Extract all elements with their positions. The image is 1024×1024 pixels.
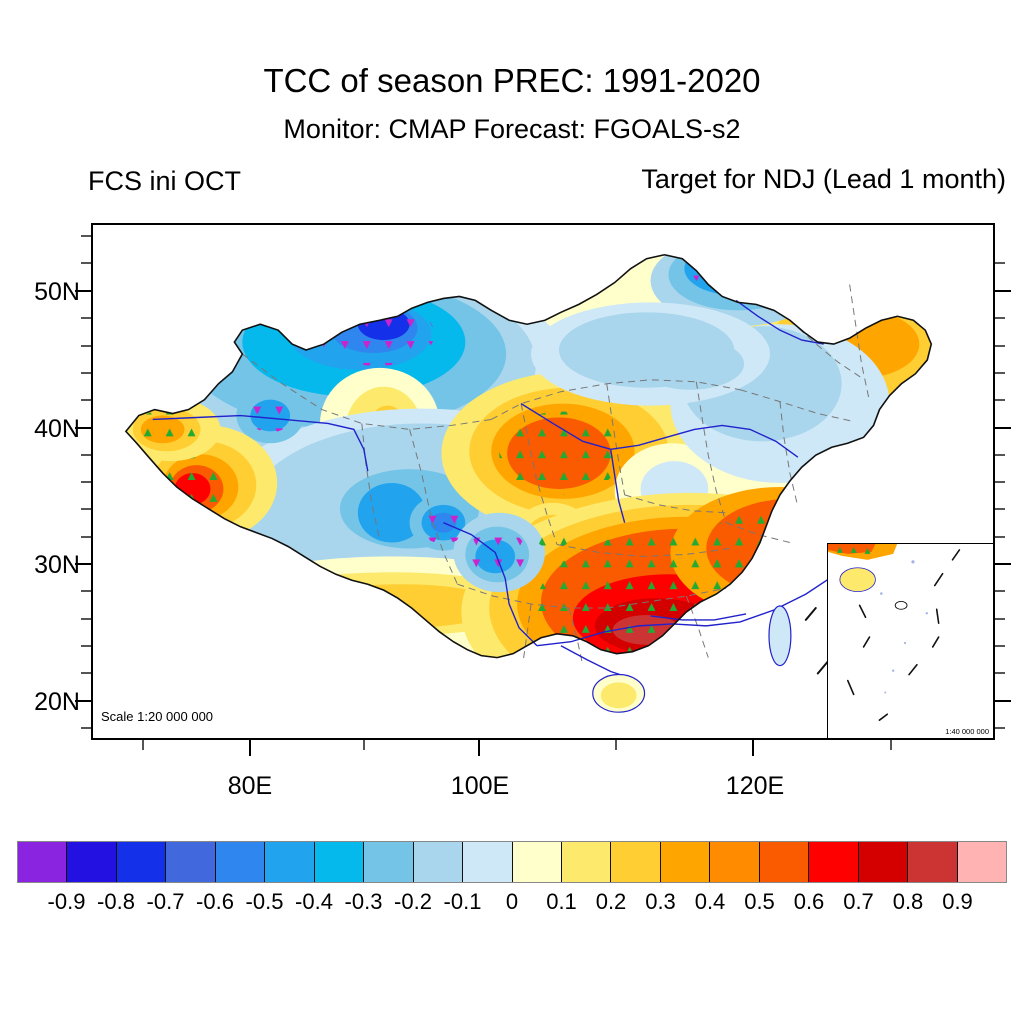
south-china-sea-dashes <box>806 608 828 673</box>
colorbar-band-13[interactable] <box>661 842 710 882</box>
axis-tick-minor <box>81 262 91 264</box>
axis-tick-minor <box>995 536 1005 538</box>
axis-tick-minor <box>81 399 91 401</box>
axis-tick-minor <box>995 645 1005 647</box>
axis-tick-minor <box>995 727 1005 729</box>
colorbar-band-16[interactable] <box>809 842 858 882</box>
colorbar-tick-3: -0.6 <box>196 889 234 915</box>
colorbar-tick-9: 0 <box>506 889 518 915</box>
axis-tick-minor <box>81 672 91 674</box>
inset-scale-note: 1:40 000 000 <box>945 727 989 736</box>
axis-tick-minor <box>81 372 91 374</box>
axis-tick-minor <box>995 345 1005 347</box>
axis-tick-minor <box>995 590 1005 592</box>
colorbar-band-1[interactable] <box>67 842 116 882</box>
colorbar-tick-8: -0.1 <box>444 889 482 915</box>
colorbar-tick-5: -0.4 <box>295 889 333 915</box>
axis-tick-minor <box>995 262 1005 264</box>
axis-tick-minor <box>81 536 91 538</box>
colorbar-band-5[interactable] <box>265 842 314 882</box>
axis-tick-minor <box>142 740 144 750</box>
colorbar-band-6[interactable] <box>315 842 364 882</box>
axis-tick-minor <box>995 454 1005 456</box>
lat-tick-30n: 30N <box>34 551 80 580</box>
colorbar-tick-13: 0.4 <box>695 889 726 915</box>
axis-tick-major <box>75 563 91 565</box>
colorbar-band-14[interactable] <box>710 842 759 882</box>
colorbar-tick-6: -0.3 <box>345 889 383 915</box>
axis-tick-major <box>995 290 1011 292</box>
colorbar-band-3[interactable] <box>166 842 215 882</box>
axis-tick-major <box>75 700 91 702</box>
axis-tick-major <box>995 700 1011 702</box>
colorbar-tick-18: 0.9 <box>942 889 973 915</box>
axis-tick-major <box>995 427 1011 429</box>
colorbar-tick-10: 0.1 <box>546 889 577 915</box>
south-china-sea-inset[interactable]: 1:40 000 000 <box>827 543 994 739</box>
axis-tick-minor <box>81 590 91 592</box>
subtitle: Monitor: CMAP Forecast: FGOALS-s2 <box>0 114 1024 145</box>
axis-tick-minor <box>995 399 1005 401</box>
inset-map-svg <box>828 544 993 738</box>
axis-tick-major <box>75 427 91 429</box>
colorbar-tick-12: 0.3 <box>645 889 676 915</box>
axis-tick-minor <box>81 508 91 510</box>
axis-tick-minor <box>81 454 91 456</box>
taiwan-island <box>769 606 791 666</box>
colorbar-tick-1: -0.8 <box>97 889 135 915</box>
colorbar[interactable] <box>17 841 1007 883</box>
lat-tick-20n: 20N <box>34 688 80 717</box>
forecast-init-label: FCS ini OCT <box>88 166 241 197</box>
page-title: TCC of season PREC: 1991-2020 <box>0 62 1024 100</box>
colorbar-band-7[interactable] <box>364 842 413 882</box>
axis-tick-minor <box>615 740 617 750</box>
hainan-island <box>593 674 645 712</box>
lat-tick-50n: 50N <box>34 278 80 307</box>
target-period-label: Target for NDJ (Lead 1 month) <box>641 164 1006 195</box>
axis-tick-minor <box>81 618 91 620</box>
colorbar-band-19[interactable] <box>958 842 1006 882</box>
map-scale-note: Scale 1:20 000 000 <box>101 709 213 724</box>
axis-tick-minor <box>81 481 91 483</box>
axis-tick-minor <box>995 672 1005 674</box>
colorbar-tick-4: -0.5 <box>246 889 284 915</box>
colorbar-band-18[interactable] <box>908 842 957 882</box>
colorbar-tick-16: 0.7 <box>843 889 874 915</box>
colorbar-tick-14: 0.5 <box>744 889 775 915</box>
colorbar-tick-15: 0.6 <box>794 889 825 915</box>
axis-tick-minor <box>81 317 91 319</box>
colorbar-band-15[interactable] <box>760 842 809 882</box>
colorbar-band-4[interactable] <box>216 842 265 882</box>
colorbar-tick-2: -0.7 <box>147 889 185 915</box>
colorbar-band-11[interactable] <box>562 842 611 882</box>
colorbar-band-8[interactable] <box>414 842 463 882</box>
colorbar-tick-labels: -0.9-0.8-0.7-0.6-0.5-0.4-0.3-0.2-0.100.1… <box>17 889 1007 917</box>
colorbar-band-10[interactable] <box>513 842 562 882</box>
colorbar-tick-11: 0.2 <box>596 889 627 915</box>
axis-tick-minor <box>995 372 1005 374</box>
axis-tick-minor <box>81 235 91 237</box>
axis-tick-minor <box>995 618 1005 620</box>
axis-tick-major <box>249 740 251 756</box>
axis-tick-minor <box>995 317 1005 319</box>
axis-tick-minor <box>363 740 365 750</box>
colorbar-band-2[interactable] <box>117 842 166 882</box>
lon-tick-80e: 80E <box>210 772 290 801</box>
axis-tick-minor <box>890 740 892 750</box>
axis-tick-minor <box>81 345 91 347</box>
colorbar-band-17[interactable] <box>859 842 908 882</box>
lat-tick-40n: 40N <box>34 415 80 444</box>
colorbar-tick-0: -0.9 <box>48 889 86 915</box>
colorbar-tick-17: 0.8 <box>893 889 924 915</box>
axis-tick-major <box>752 740 754 756</box>
colorbar-band-0[interactable] <box>18 842 67 882</box>
colorbar-band-12[interactable] <box>611 842 660 882</box>
colorbar-band-9[interactable] <box>463 842 512 882</box>
axis-tick-minor <box>995 481 1005 483</box>
axis-tick-major <box>995 563 1011 565</box>
axis-tick-major <box>478 740 480 756</box>
axis-tick-minor <box>995 508 1005 510</box>
lon-tick-100e: 100E <box>435 772 525 801</box>
axis-tick-minor <box>81 727 91 729</box>
colorbar-tick-7: -0.2 <box>394 889 432 915</box>
axis-tick-major <box>75 290 91 292</box>
lon-tick-120e: 120E <box>710 772 800 801</box>
axis-tick-minor <box>81 645 91 647</box>
